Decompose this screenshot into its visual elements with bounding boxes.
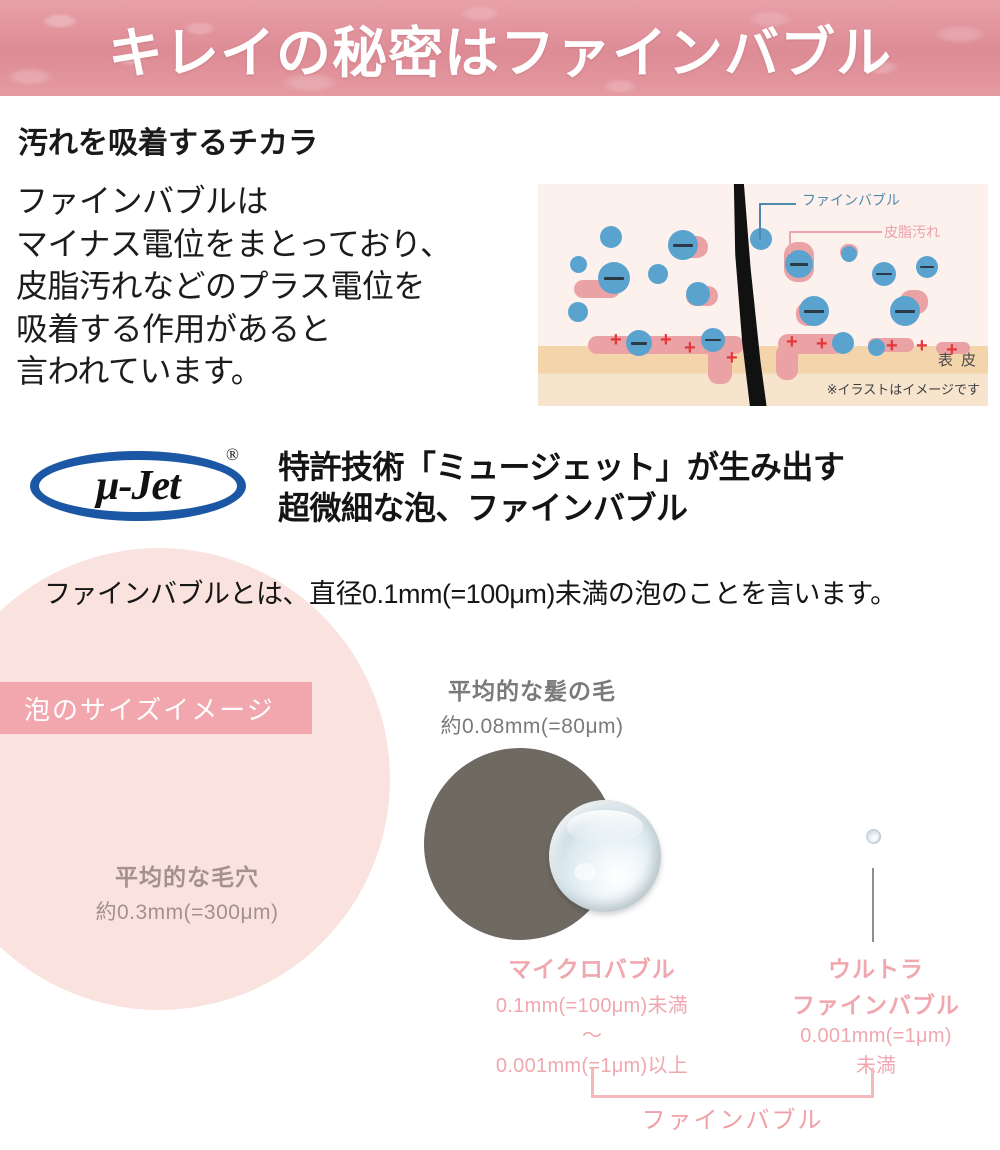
ultrafine-size: 0.001mm(=1μm) xyxy=(758,1025,994,1048)
section-subheading: 汚れを吸着するチカラ xyxy=(18,118,318,162)
ultrafine-name-line1: ウルトラ xyxy=(758,950,994,984)
skin-bubble-illustration: + + + + + + + + + ファインバブル 皮脂汚れ 表 皮 ※イラスト… xyxy=(538,184,988,406)
pore-size: 約0.3mm(=300μm) xyxy=(42,896,332,926)
label-epidermis: 表 皮 xyxy=(938,349,978,370)
hair-size: 約0.08mm(=80μm) xyxy=(402,710,662,740)
size-image-badge-label: 泡のサイズイメージ xyxy=(24,690,275,727)
label-sebum: 皮脂汚れ xyxy=(884,222,940,242)
mu-jet-logo: μ-Jet ® xyxy=(30,443,252,529)
pore-name: 平均的な毛穴 xyxy=(42,858,332,892)
leader-lines xyxy=(538,184,988,406)
average-pore-circle xyxy=(0,548,390,1010)
registered-trademark-icon: ® xyxy=(226,445,239,465)
page-title: キレイの秘密はファインバブル xyxy=(0,0,1000,96)
fine-bubble-definition: ファインバブルとは、直径0.1mm(=100μm)未満の泡のことを言います。 xyxy=(44,572,897,611)
microbubble-name: マイクロバブル xyxy=(452,950,732,984)
size-image-badge: 泡のサイズイメージ xyxy=(0,682,312,734)
illustration-disclaimer: ※イラストはイメージです xyxy=(827,379,980,398)
ultrafine-name-line2: ファインバブル xyxy=(758,986,994,1020)
hair-name: 平均的な髪の毛 xyxy=(402,672,662,706)
ultrafine-bubble-dot xyxy=(866,829,881,844)
pore-size-label: 平均的な毛穴 約0.3mm(=300μm) xyxy=(42,858,332,926)
ultrafine-bubble-label: ウルトラ ファインバブル 0.001mm(=1μm) 未満 xyxy=(758,950,994,1078)
microbubble-label: マイクロバブル 0.1mm(=100μm)未満 〜 0.001mm(=1μm)以… xyxy=(452,950,732,1078)
fine-bubble-bracket xyxy=(591,1068,874,1098)
body-paragraph: ファインバブルは マイナス電位をまとっており、 皮脂汚れなどのプラス電位を 吸着… xyxy=(16,180,452,393)
fine-bubble-bracket-label: ファインバブル xyxy=(591,1100,874,1135)
ultrafine-bubble-pointer xyxy=(872,868,874,942)
microbubble-range-tilde: 〜 xyxy=(452,1019,732,1048)
header-banner: キレイの秘密はファインバブル xyxy=(0,0,1000,96)
microbubble-size-upper: 0.1mm(=100μm)未満 xyxy=(452,989,732,1018)
infographic-page: キレイの秘密はファインバブル 汚れを吸着するチカラ ファインバブルは マイナス電… xyxy=(0,0,1000,1150)
hair-size-label: 平均的な髪の毛 約0.08mm(=80μm) xyxy=(402,672,662,740)
logo-wordmark: μ-Jet xyxy=(30,451,246,521)
patent-heading: 特許技術「ミュージェット」が生み出す 超微細な泡、ファインバブル xyxy=(278,447,844,529)
label-fine-bubble: ファインバブル xyxy=(802,190,900,210)
microbubble-sphere xyxy=(549,800,661,912)
